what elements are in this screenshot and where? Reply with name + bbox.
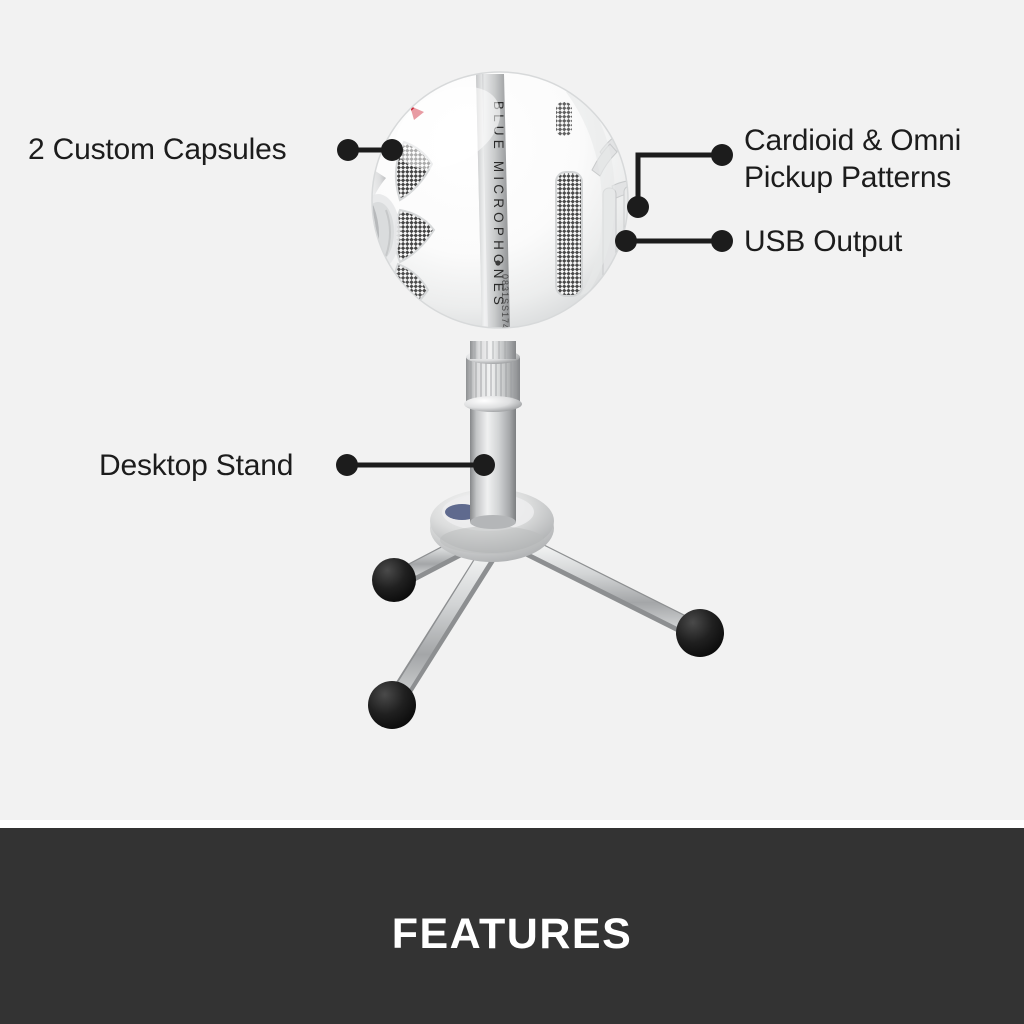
tripod-foot-front xyxy=(368,681,416,729)
callout-label-capsules: 2 Custom Capsules xyxy=(28,131,286,168)
product-photo-panel: BLUE MICROPHONES 0831SS1740 xyxy=(0,0,1024,820)
features-banner-title: FEATURES xyxy=(0,910,1024,959)
tripod-foot-left xyxy=(372,558,416,602)
callout-label-usb: USB Output xyxy=(744,223,902,260)
product-feature-graphic: BLUE MICROPHONES 0831SS1740 xyxy=(0,0,1024,1024)
callout-label-stand: Desktop Stand xyxy=(99,447,293,484)
features-banner: FEATURES xyxy=(0,828,1024,1024)
microphone-ball: BLUE MICROPHONES 0831SS1740 xyxy=(324,70,647,336)
knurled-collar xyxy=(464,341,522,412)
panel-divider xyxy=(0,820,1024,828)
callout-label-cardioid: Cardioid & Omni Pickup Patterns xyxy=(744,122,961,196)
stand-pole xyxy=(470,404,516,529)
tripod-legs xyxy=(368,538,724,729)
serial-number-text: 0831SS1740 xyxy=(500,274,510,336)
tripod-leg-right xyxy=(530,546,724,657)
tripod-foot-right xyxy=(676,609,724,657)
